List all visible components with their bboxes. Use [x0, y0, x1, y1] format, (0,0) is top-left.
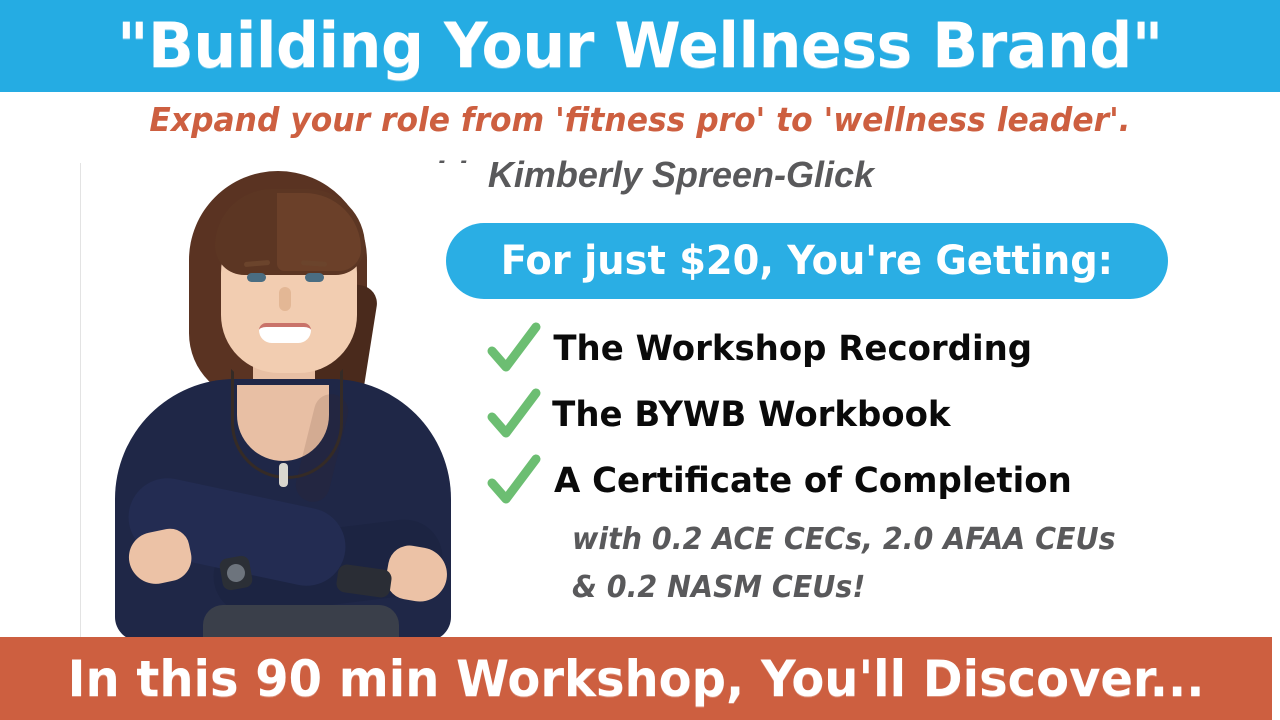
check-icon: [486, 321, 542, 377]
list-item: The Workshop Recording: [486, 316, 1186, 382]
list-item: A Certificate of Completion: [486, 448, 1186, 514]
portrait-lap: [203, 605, 399, 638]
portrait-wristwatch: [218, 555, 253, 592]
subtitle: Expand your role from 'fitness pro' to '…: [32, 98, 1248, 142]
ceu-note-line-1: with 0.2 ACE CECs, 2.0 AFAA CEUs: [572, 516, 1180, 564]
ceu-note-line-2: & 0.2 NASM CEUs!: [572, 564, 1180, 612]
portrait-eye-right: [305, 273, 324, 282]
cta-label: In this 90 min Workshop, You'll Discover…: [68, 654, 1205, 704]
portrait-smile: [259, 323, 311, 343]
portrait-nose: [279, 287, 291, 311]
benefit-label: The Workshop Recording: [553, 332, 1032, 367]
check-icon: [486, 453, 542, 509]
list-item: The BYWB Workbook: [486, 382, 1186, 448]
portrait-pendant: [279, 463, 288, 487]
benefit-label: A Certificate of Completion: [554, 464, 1072, 499]
offer-pill: For just $20, You're Getting:: [446, 223, 1168, 299]
benefit-label: The BYWB Workbook: [552, 398, 950, 433]
title-banner: "Building Your Wellness Brand": [0, 0, 1280, 92]
promo-slide: "Building Your Wellness Brand" Expand yo…: [0, 0, 1280, 720]
benefit-list: The Workshop Recording The BYWB Workbook…: [486, 316, 1186, 514]
check-icon: [486, 387, 542, 443]
ceu-note: with 0.2 ACE CECs, 2.0 AFAA CEUs & 0.2 N…: [572, 516, 1180, 612]
cta-banner: In this 90 min Workshop, You'll Discover…: [0, 637, 1272, 720]
presenter-photo: [80, 163, 481, 638]
offer-pill-label: For just $20, You're Getting:: [501, 241, 1113, 281]
portrait-necklace: [231, 369, 343, 479]
portrait-eye-left: [247, 273, 266, 282]
portrait-illustration: [81, 163, 481, 638]
page-title: "Building Your Wellness Brand": [117, 15, 1163, 77]
